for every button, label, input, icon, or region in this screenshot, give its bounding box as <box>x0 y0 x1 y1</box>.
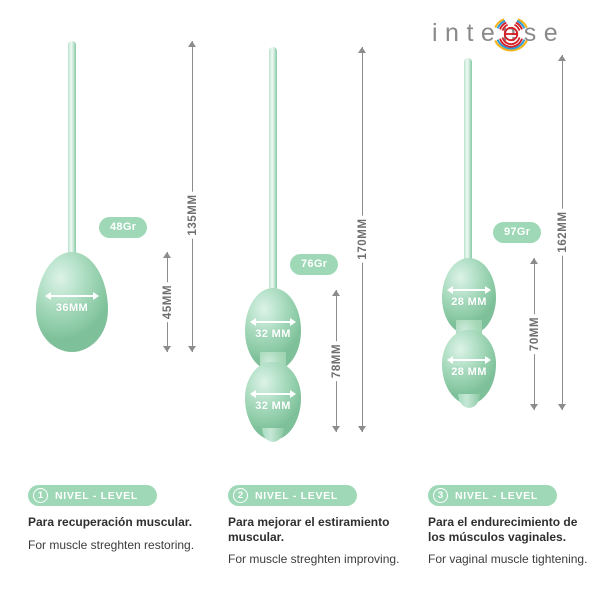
arrow-left-icon <box>45 292 51 300</box>
product-3-weight-badge: 97Gr <box>493 222 541 243</box>
product-3-stem <box>464 58 472 278</box>
arrow-down-icon <box>188 346 196 352</box>
product-2-upper-width-measure: 32 MM <box>245 318 301 340</box>
product-3-body-dimension: 70MM <box>528 258 541 410</box>
product-3-lower-ball: 28 MM <box>442 330 496 404</box>
caption-2-spanish: Para mejorar el estiramiento muscular. <box>228 515 414 544</box>
arrow-down-icon <box>558 404 566 410</box>
product-1-weight-badge: 48Gr <box>99 217 147 238</box>
level-label-2: NIVEL - LEVEL <box>255 490 338 502</box>
product-level-1: 36MM 48Gr 45MM 135MM <box>0 0 210 470</box>
product-2-lower-width-measure: 32 MM <box>245 390 301 412</box>
product-1-egg: 36MM <box>36 252 108 352</box>
product-2-total-dimension: 170MM <box>356 47 369 432</box>
arrow-down-icon <box>530 404 538 410</box>
arrow-down-icon <box>163 346 171 352</box>
caption-1-spanish: Para recuperación muscular. <box>28 515 214 530</box>
caption-level-1: 1 NIVEL - LEVEL Para recuperación muscul… <box>28 485 214 552</box>
arrow-down-icon <box>332 426 340 432</box>
level-number-2: 2 <box>233 488 248 503</box>
arrow-up-icon <box>558 55 566 61</box>
arrow-right-icon <box>485 356 491 364</box>
arrow-down-icon <box>358 426 366 432</box>
product-3-upper-width-measure: 28 MM <box>442 286 496 308</box>
arrow-left-icon <box>447 286 453 294</box>
level-badge-3: 3 NIVEL - LEVEL <box>428 485 557 506</box>
arrow-up-icon <box>358 47 366 53</box>
level-number-1: 1 <box>33 488 48 503</box>
caption-3-english: For vaginal muscle tightening. <box>428 552 594 567</box>
arrow-left-icon <box>250 318 256 326</box>
arrow-up-icon <box>163 252 171 258</box>
product-3-total-dimension: 162MM <box>556 55 569 410</box>
arrow-right-icon <box>485 286 491 294</box>
caption-2-english: For muscle streghten improving. <box>228 552 414 567</box>
product-3-body-length-label: 70MM <box>527 314 543 354</box>
product-1-width-measure: 36MM <box>36 292 108 314</box>
product-1-body-length-label: 45MM <box>160 282 176 322</box>
caption-3-spanish: Para el endurecimiento de los músculos v… <box>428 515 594 544</box>
arrow-left-icon <box>250 390 256 398</box>
product-2-weight-badge: 76Gr <box>290 254 338 275</box>
level-label-1: NIVEL - LEVEL <box>55 490 138 502</box>
arrow-left-icon <box>447 356 453 364</box>
arrow-right-icon <box>290 318 296 326</box>
caption-1-english: For muscle streghten restoring. <box>28 538 214 553</box>
product-2-tail <box>262 428 284 442</box>
level-number-3: 3 <box>433 488 448 503</box>
product-2-body-length-label: 78MM <box>329 341 345 381</box>
level-badge-2: 2 NIVEL - LEVEL <box>228 485 357 506</box>
product-2-body-dimension: 78MM <box>330 290 343 432</box>
product-2-total-length-label: 170MM <box>355 215 371 262</box>
arrow-up-icon <box>332 290 340 296</box>
arrow-up-icon <box>188 41 196 47</box>
size-chart-page: intense <box>0 0 600 600</box>
product-3-lower-width-measure: 28 MM <box>442 356 496 378</box>
arrow-right-icon <box>93 292 99 300</box>
product-2-stem <box>269 47 277 300</box>
product-1-total-length-label: 135MM <box>185 191 201 238</box>
product-1-stem <box>68 41 76 266</box>
caption-level-2: 2 NIVEL - LEVEL Para mejorar el estirami… <box>228 485 414 567</box>
level-badge-1: 1 NIVEL - LEVEL <box>28 485 157 506</box>
arrow-up-icon <box>530 258 538 264</box>
product-3-tail <box>458 394 480 408</box>
level-label-3: NIVEL - LEVEL <box>455 490 538 502</box>
product-level-3: 28 MM 28 MM 97Gr 70MM 162MM <box>400 0 600 470</box>
product-1-total-dimension: 135MM <box>186 41 199 352</box>
caption-level-3: 3 NIVEL - LEVEL Para el endurecimiento d… <box>428 485 594 567</box>
product-3-total-length-label: 162MM <box>555 208 571 255</box>
product-level-2: 32 MM 32 MM 76Gr 78MM 170MM <box>200 0 400 470</box>
arrow-right-icon <box>290 390 296 398</box>
product-1-body-dimension: 45MM <box>161 252 174 352</box>
